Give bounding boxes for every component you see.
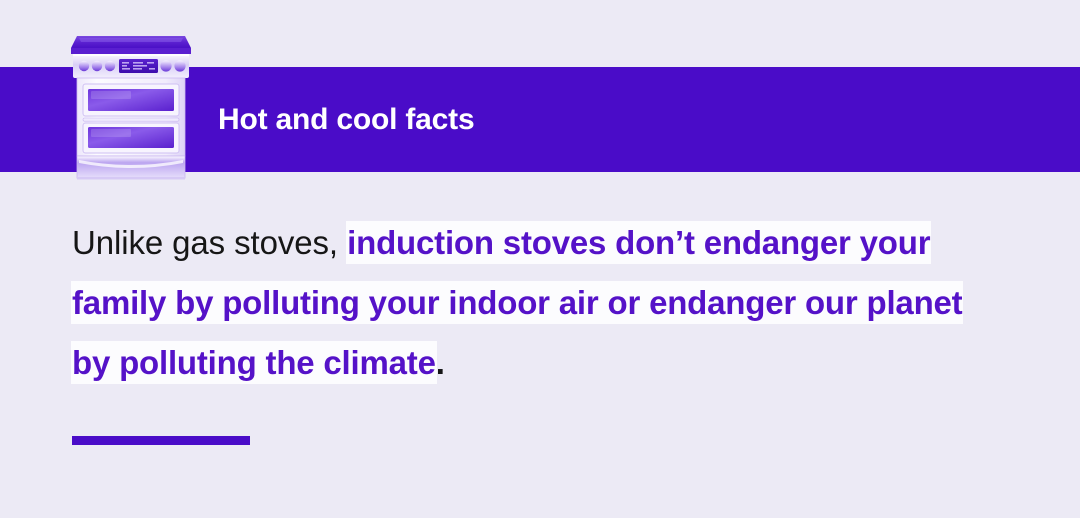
fact-card: Hot and cool facts: [0, 0, 1080, 518]
copy-plain-text: Unlike gas stoves,: [72, 224, 338, 261]
copy-highlight-text: family by polluting your indoor air or e…: [72, 282, 962, 323]
page-title: Hot and cool facts: [218, 67, 474, 172]
copy-line-1: Unlike gas stoves, induction stoves don’…: [72, 213, 1032, 273]
body-copy: Unlike gas stoves, induction stoves don’…: [72, 213, 1032, 393]
copy-line-3: by polluting the climate.: [72, 333, 1032, 393]
copy-highlight-text: by polluting the climate: [72, 342, 436, 383]
copy-trailing-punctuation: .: [436, 344, 445, 381]
copy-line-2: family by polluting your indoor air or e…: [72, 273, 1032, 333]
induction-stove-icon: [67, 28, 195, 180]
divider-rule: [72, 436, 250, 445]
copy-highlight-text: induction stoves don’t endanger your: [347, 222, 930, 263]
